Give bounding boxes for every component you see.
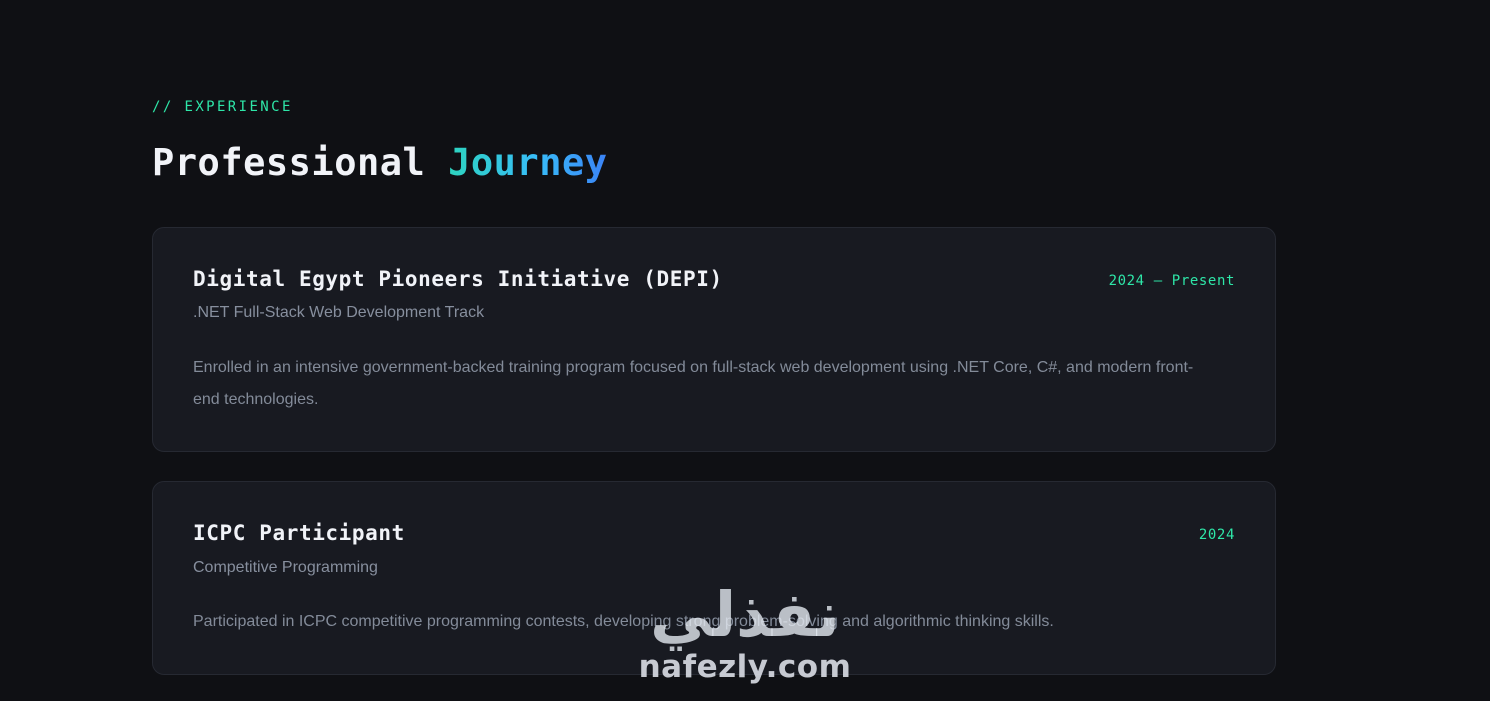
experience-content: // EXPERIENCE Professional Journey Digit… <box>152 0 1276 675</box>
experience-subtitle: Competitive Programming <box>193 558 405 579</box>
experience-card-heading-group: Digital Egypt Pioneers Initiative (DEPI)… <box>193 266 723 324</box>
page-title: Professional Journey <box>152 142 1276 185</box>
experience-description: Enrolled in an intensive government-back… <box>193 352 1213 415</box>
experience-period: 2024 <box>1199 520 1235 543</box>
experience-card-header: Digital Egypt Pioneers Initiative (DEPI)… <box>193 266 1235 324</box>
experience-period: 2024 – Present <box>1109 266 1235 289</box>
experience-card-list: Digital Egypt Pioneers Initiative (DEPI)… <box>152 227 1276 675</box>
section-eyebrow: // EXPERIENCE <box>152 100 1276 115</box>
experience-card[interactable]: Digital Egypt Pioneers Initiative (DEPI)… <box>152 227 1276 452</box>
experience-description: Participated in ICPC competitive program… <box>193 606 1213 638</box>
experience-title: ICPC Participant <box>193 520 405 546</box>
experience-subtitle: .NET Full-Stack Web Development Track <box>193 303 723 324</box>
experience-card-header: ICPC Participant Competitive Programming… <box>193 520 1235 578</box>
experience-title: Digital Egypt Pioneers Initiative (DEPI) <box>193 266 723 292</box>
page-title-plain: Professional <box>152 141 448 184</box>
page-title-accent: Journey <box>448 141 607 184</box>
experience-card-heading-group: ICPC Participant Competitive Programming <box>193 520 405 578</box>
experience-page: // EXPERIENCE Professional Journey Digit… <box>0 0 1490 701</box>
experience-card[interactable]: ICPC Participant Competitive Programming… <box>152 481 1276 675</box>
